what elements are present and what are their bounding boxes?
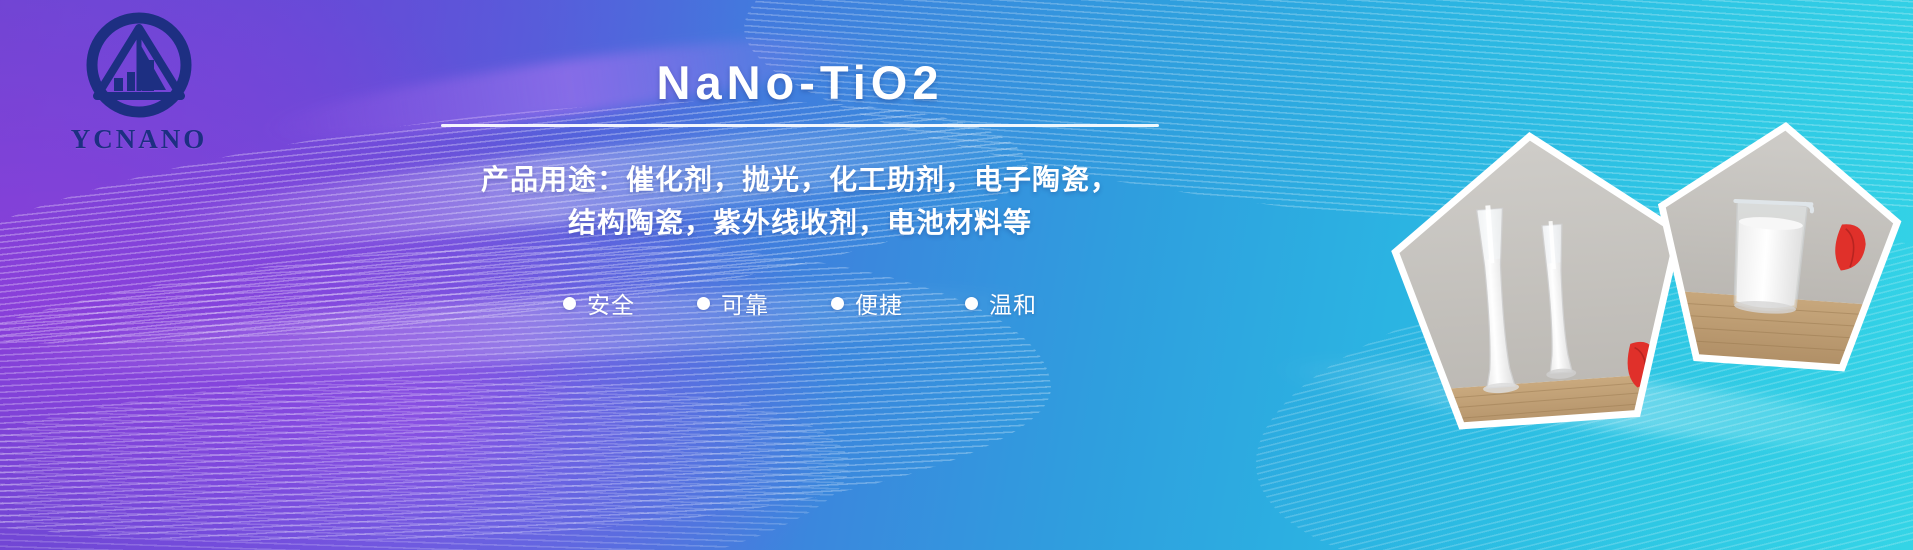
feature-label: 温和 xyxy=(989,286,1037,320)
product-photo-beaker[interactable] xyxy=(1643,112,1911,391)
feature-label: 可靠 xyxy=(721,286,769,320)
bullet-dot-icon xyxy=(563,297,576,310)
banner-title: NaNo-TiO2 xyxy=(657,58,944,107)
brand-wordmark: YCNANO xyxy=(71,124,208,155)
product-photo-group xyxy=(1390,120,1910,450)
feature-item-convenient: 便捷 xyxy=(831,286,903,320)
title-divider xyxy=(441,124,1159,127)
wave-band-left-lower xyxy=(0,354,855,550)
subtitle-line-1: 产品用途：催化剂，抛光，化工助剂，电子陶瓷， xyxy=(481,159,1119,202)
feature-label: 便捷 xyxy=(855,286,903,320)
subtitle-line-2: 结构陶瓷，紫外线收剂，电池材料等 xyxy=(481,202,1119,245)
feature-label: 安全 xyxy=(587,286,635,320)
banner-content: NaNo-TiO2 产品用途：催化剂，抛光，化工助剂，电子陶瓷， 结构陶瓷，紫外… xyxy=(430,58,1170,320)
mountain-triangle-in-circle-logo-icon xyxy=(78,12,200,122)
bullet-dot-icon xyxy=(697,297,710,310)
feature-item-mild: 温和 xyxy=(965,286,1037,320)
feature-list: 安全 可靠 便捷 温和 xyxy=(563,286,1037,320)
banner-subtitle: 产品用途：催化剂，抛光，化工助剂，电子陶瓷， 结构陶瓷，紫外线收剂，电池材料等 xyxy=(481,159,1119,244)
bullet-dot-icon xyxy=(965,297,978,310)
feature-item-reliable: 可靠 xyxy=(697,286,769,320)
brand-logo[interactable]: YCNANO xyxy=(44,12,234,152)
product-banner: YCNANO NaNo-TiO2 产品用途：催化剂，抛光，化工助剂，电子陶瓷， … xyxy=(0,0,1913,550)
feature-item-safe: 安全 xyxy=(563,286,635,320)
bullet-dot-icon xyxy=(831,297,844,310)
